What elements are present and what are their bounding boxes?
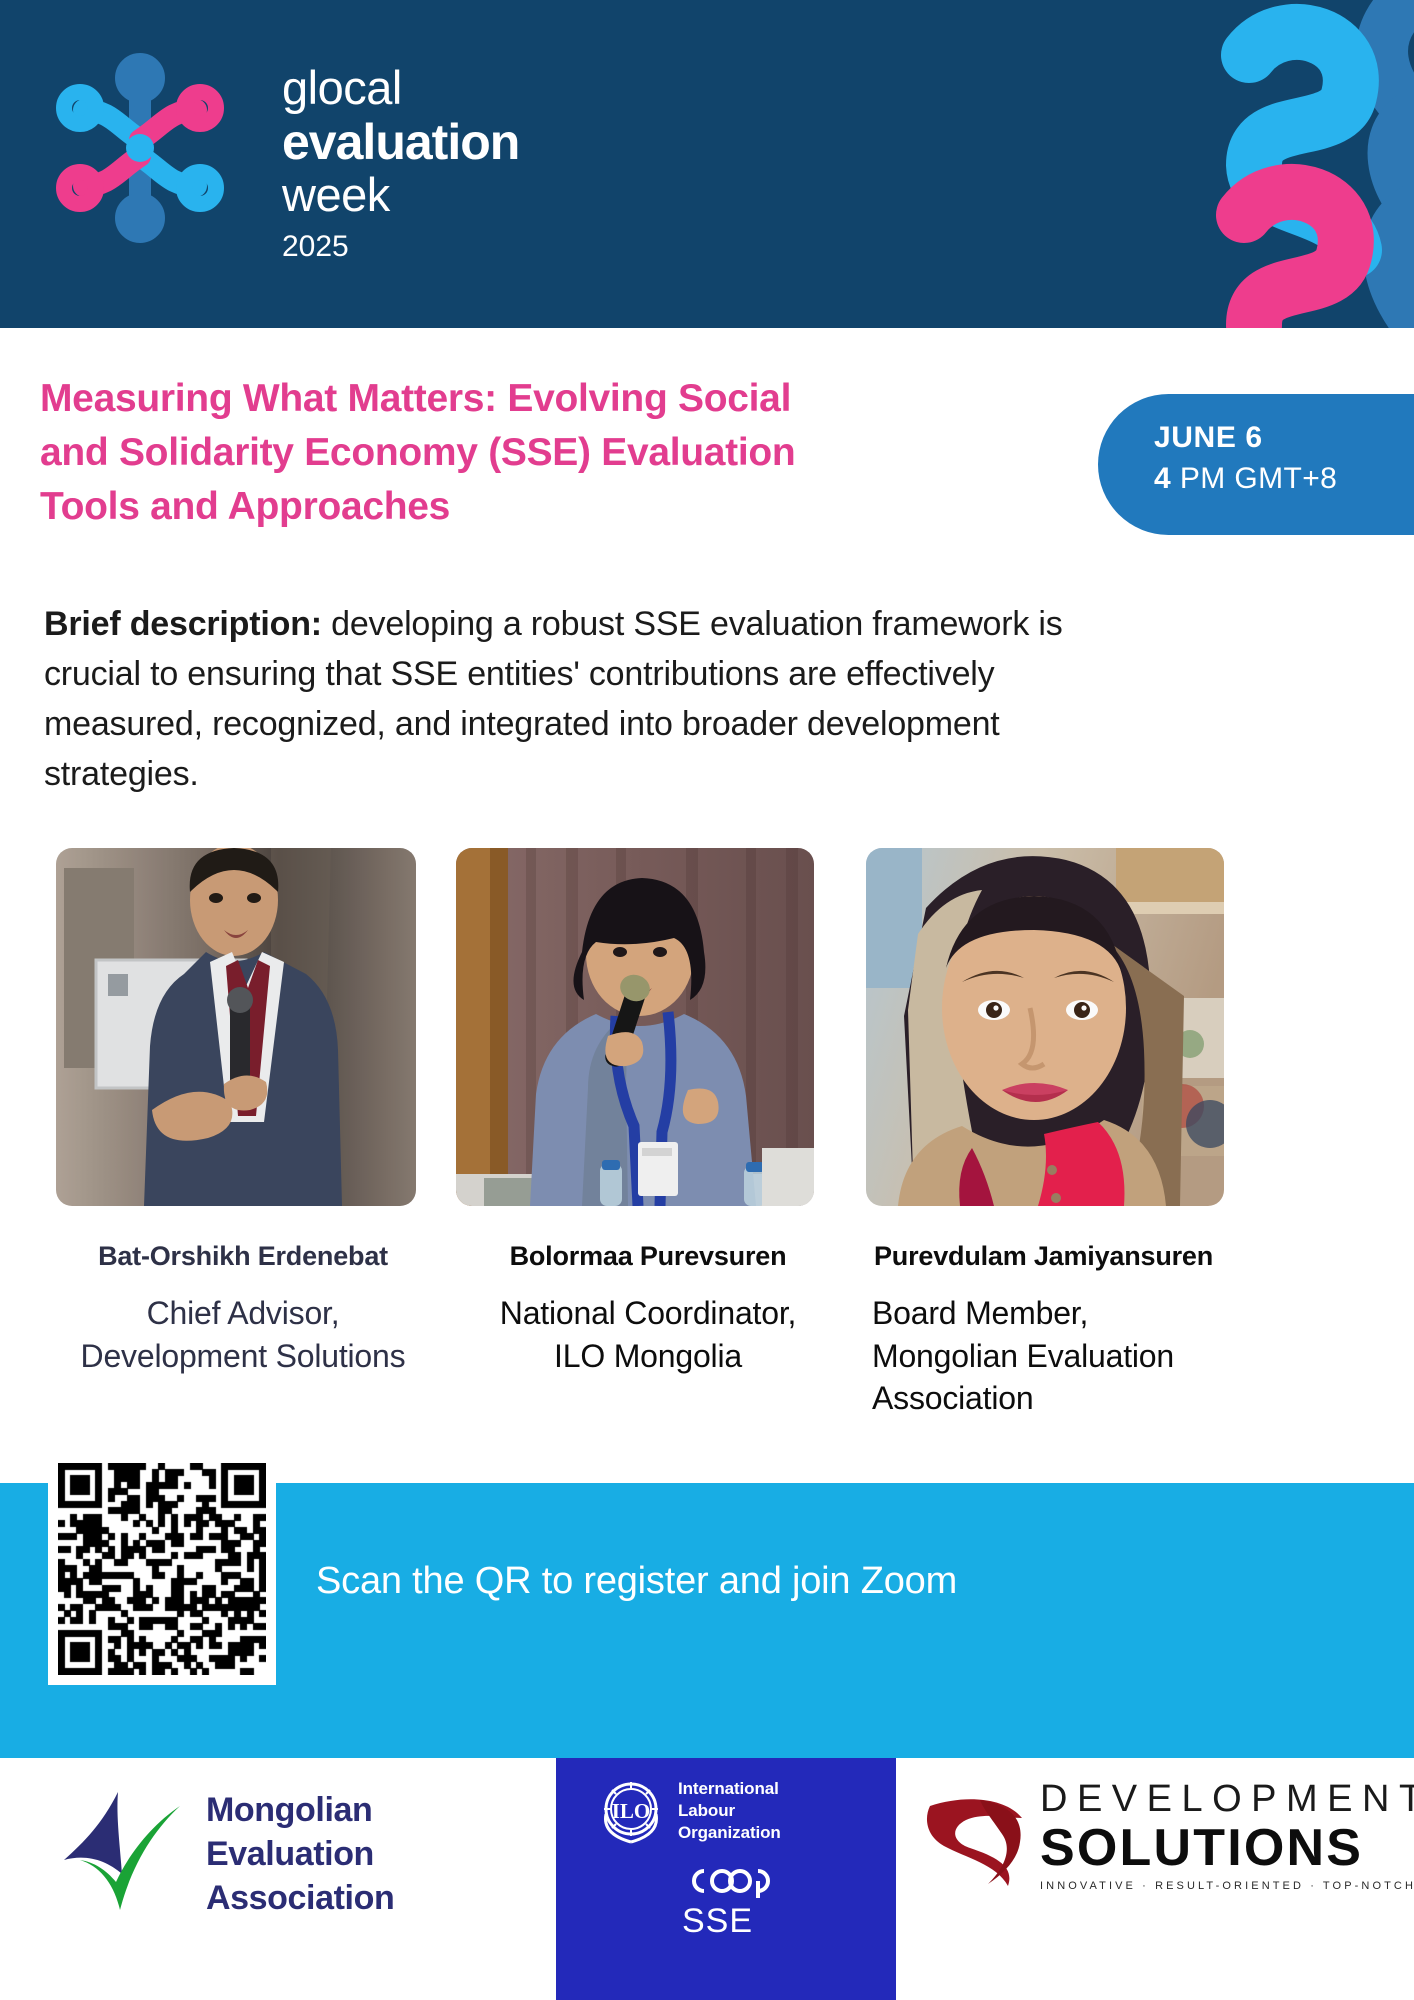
speaker-photo-bat-orshikh-erdenebat (56, 848, 416, 1206)
ilo-emblem-icon: ILO (594, 1774, 668, 1848)
mea-line-3: Association (206, 1876, 394, 1920)
partner-logos-footer: Mongolian Evaluation Association (0, 1758, 1414, 2000)
svg-text:ILO: ILO (612, 1799, 651, 1823)
speaker-card: Bolormaa Purevsuren National Coordinator… (448, 848, 848, 1420)
partner-logo-ilo-coop-sse: ILO International Labour Organization (556, 1758, 896, 2000)
qr-instruction-text: Scan the QR to register and join Zoom (316, 1551, 1216, 1613)
speakers-row: Bat-Orshikh Erdenebat Chief Advisor,Deve… (0, 848, 1414, 1420)
badge-time: 4 PM GMT+8 (1154, 459, 1414, 498)
qr-code[interactable] (48, 1453, 276, 1685)
speaker-card: Purevdulam Jamiyansuren Board Member,Mon… (858, 848, 1278, 1420)
ds-line-development: DEVELOPMENT (1040, 1780, 1414, 1820)
brand-line-evaluation: evaluation (282, 117, 519, 167)
brand-line-glocal: glocal (282, 64, 519, 111)
qr-cta-strip: Scan the QR to register and join Zoom (0, 1483, 1414, 1758)
event-poster: glocal evaluation week 2025 Measuring Wh… (0, 0, 1414, 2000)
mea-line-2: Evaluation (206, 1832, 394, 1876)
session-title: Measuring What Matters: Evolving Social … (40, 372, 860, 533)
partner-logo-mongolian-evaluation-association: Mongolian Evaluation Association (0, 1758, 556, 2000)
glocal-evaluation-week-logo-icon (40, 48, 240, 248)
session-title-block: Measuring What Matters: Evolving Social … (40, 372, 860, 533)
coop-sse-label: SSE (682, 1904, 864, 1938)
speaker-name: Bat-Orshikh Erdenebat (56, 1240, 430, 1272)
date-time-badge: JUNE 6 4 PM GMT+8 (1098, 394, 1414, 535)
mea-line-1: Mongolian (206, 1788, 394, 1832)
speaker-name: Bolormaa Purevsuren (456, 1240, 840, 1272)
badge-date: JUNE 6 (1154, 420, 1414, 456)
partner-logo-development-solutions: DEVELOPMENT SOLUTIONS INNOVATIVE · RESUL… (896, 1758, 1414, 2000)
ilo-wordmark: International Labour Organization (678, 1778, 781, 1843)
header-decorative-squiggle-icon (954, 0, 1414, 328)
brand-line-week: week (282, 171, 519, 218)
speaker-photo-bolormaa-purevsuren (456, 848, 814, 1206)
development-solutions-s-icon (922, 1784, 1030, 1892)
qr-code-canvas[interactable] (58, 1463, 266, 1675)
speaker-card: Bat-Orshikh Erdenebat Chief Advisor,Deve… (48, 848, 438, 1420)
ds-line-solutions: SOLUTIONS (1040, 1822, 1414, 1874)
speaker-photo-purevdulam-jamiyansuren (866, 848, 1224, 1206)
ilo-line-3: Organization (678, 1822, 781, 1844)
speaker-role: Board Member,Mongolian EvaluationAssocia… (866, 1292, 1270, 1420)
mea-wordmark: Mongolian Evaluation Association (206, 1788, 394, 1921)
ilo-line-1: International (678, 1778, 781, 1800)
description-label: Brief description: (44, 605, 322, 643)
ds-tagline: INNOVATIVE · RESULT-ORIENTED · TOP-NOTCH (1040, 1880, 1414, 1892)
session-description: Brief description: developing a robust S… (44, 600, 1079, 800)
ilo-line-2: Labour (678, 1800, 781, 1822)
speaker-role: Chief Advisor,Development Solutions (56, 1292, 430, 1377)
brand-year: 2025 (282, 232, 519, 262)
speaker-role: National Coordinator,ILO Mongolia (456, 1292, 840, 1377)
badge-time-suffix: PM GMT+8 (1171, 462, 1337, 495)
badge-time-hour: 4 (1154, 462, 1171, 495)
speaker-name: Purevdulam Jamiyansuren (866, 1240, 1270, 1272)
coop-logo-icon (682, 1862, 786, 1900)
brand-wordmark: glocal evaluation week 2025 (282, 64, 519, 262)
header-band: glocal evaluation week 2025 (0, 0, 1414, 328)
mea-diamond-check-icon (58, 1784, 190, 1924)
